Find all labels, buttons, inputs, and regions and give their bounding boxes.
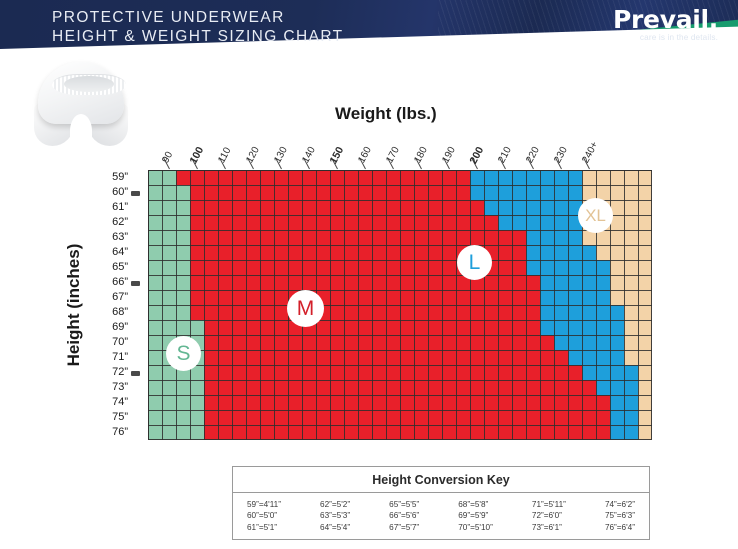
key-column: 68”=5'8”69”=5'9”70”=5'10” [458,499,493,533]
size-badge-m: M [287,290,324,327]
height-tick-label: 60” [112,186,128,198]
key-entry: 59”=4'11” [247,499,281,510]
grid-cell-s [148,275,190,290]
key-entry: 70”=5'10” [458,522,493,533]
key-column: 71”=5'11”72”=6'0”73”=6'1” [532,499,566,533]
grid-cell-s [148,170,176,185]
grid-cell-l [526,260,610,275]
grid-cell-xl [638,365,652,380]
height-tick-label: 76” [112,426,128,438]
grid-cell-l [540,320,624,335]
key-entry: 61”=5'1” [247,522,281,533]
grid-cell-m [204,350,568,365]
height-tick-label: 68” [112,306,128,318]
key-entry: 72”=6'0” [532,510,566,521]
grid-cell-m [204,380,596,395]
grid-cell-m [190,230,526,245]
weight-tick-label: 210 [496,145,514,165]
weight-tick-label: 120 [244,145,262,165]
key-column: 59”=4'11”60”=5'0”61”=5'1” [247,499,281,533]
grid-cell-xl [638,410,652,425]
grid-cell-xl [596,245,652,260]
weight-tick-label: 110 [216,146,233,165]
grid-cell-l [498,215,582,230]
grid-cell-xl [638,425,652,440]
height-tick-label: 71” [112,351,128,363]
key-entry: 69”=5'9” [458,510,493,521]
key-entry: 62”=5'2” [320,499,350,510]
key-column: 74”=6'2”75”=6'3”76”=6'4” [605,499,635,533]
grid-cell-m [176,170,470,185]
size-grid [148,170,652,440]
height-tick-label: 65” [112,261,128,273]
grid-cell-s [148,185,190,200]
grid-cell-l [470,170,582,185]
height-tick-label: 75” [112,411,128,423]
grid-cell-l [540,290,610,305]
height-tick-label: 73” [112,381,128,393]
weight-tick-label: 150 [327,145,346,166]
height-tick-labels: 59”60”61”62”63”64”65”66”67”68”69”70”71”7… [88,170,142,440]
height-tick-label: 72” [112,366,128,378]
height-tick-mark [131,371,140,376]
grid-cell-m [190,305,540,320]
weight-tick-label: 190 [440,145,458,165]
grid-cell-s [148,380,204,395]
grid-cell-s [148,305,190,320]
key-entry: 66”=5'6” [389,510,419,521]
height-tick-label: 74” [112,396,128,408]
key-entry: 76”=6'4” [605,522,635,533]
key-column: 65”=5'5”66”=5'6”67”=5'7” [389,499,419,533]
grid-cell-m [190,200,484,215]
key-entry: 73”=6'1” [532,522,566,533]
grid-cell-m [204,425,610,440]
key-entry: 67”=5'7” [389,522,419,533]
weight-tick-label: 140 [300,145,318,165]
grid-cell-m [204,335,554,350]
size-badge-s: S [166,336,201,371]
grid-cell-xl [610,290,652,305]
grid-cell-xl [624,320,652,335]
weight-tick-label: 240+ [580,140,600,165]
weight-axis-title: Weight (lbs.) [335,104,437,124]
grid-cell-l [526,245,596,260]
weight-tick-label: 90 [160,150,175,165]
weight-tick-label: 180 [412,145,430,165]
grid-cell-xl [638,395,652,410]
key-entry: 65”=5'5” [389,499,419,510]
height-tick-label: 59” [112,171,128,183]
grid-cell-s [148,320,204,335]
grid-cell-xl [624,335,652,350]
grid-cell-l [610,425,638,440]
height-tick-label: 64” [112,246,128,258]
grid-cell-l [582,365,638,380]
weight-tick-label: 220 [524,145,542,165]
key-entry: 63”=5'3” [320,510,350,521]
height-tick-label: 61” [112,201,128,213]
key-entry: 68”=5'8” [458,499,493,510]
height-tick-label: 63” [112,231,128,243]
weight-tick-label: 130 [272,145,290,165]
grid-cell-s [148,425,204,440]
height-tick-label: 62” [112,216,128,228]
height-tick-label: 69” [112,321,128,333]
grid-cell-m [204,410,610,425]
grid-cell-l [540,305,624,320]
height-conversion-key: Height Conversion Key 59”=4'11”60”=5'0”6… [232,466,650,540]
grid-cell-m [204,320,540,335]
grid-cell-m [190,215,498,230]
grid-cell-m [204,395,610,410]
grid-cell-xl [582,170,652,185]
weight-tick-label: 170 [384,145,402,165]
weight-tick-label: 230 [552,145,570,165]
grid-cell-m [190,185,470,200]
grid-cell-xl [624,305,652,320]
grid-cell-s [148,410,204,425]
grid-cell-s [148,260,190,275]
grid-cell-l [568,350,624,365]
grid-cell-l [554,335,624,350]
key-entry: 75”=6'3” [605,510,635,521]
grid-cell-l [610,410,638,425]
grid-cell-xl [610,275,652,290]
grid-cell-m [204,365,582,380]
grid-cell-l [470,185,582,200]
size-badge-l: L [457,245,492,280]
grid-cell-l [526,230,582,245]
grid-cell-l [540,275,610,290]
grid-cell-m [190,275,540,290]
grid-cell-l [610,395,638,410]
key-entry: 74”=6'2” [605,499,635,510]
key-column: 62”=5'2”63”=5'3”64”=5'4” [320,499,350,533]
size-badge-xl: XL [578,198,613,233]
grid-cell-l [596,380,638,395]
height-tick-label: 66” [112,276,128,288]
key-entry: 71”=5'11” [532,499,566,510]
grid-cell-s [148,215,190,230]
key-entry: 60”=5'0” [247,510,281,521]
grid-cell-xl [638,380,652,395]
height-tick-mark [131,281,140,286]
grid-cell-xl [610,260,652,275]
grid-cell-s [148,230,190,245]
grid-cell-l [484,200,582,215]
key-entry: 64”=5'4” [320,522,350,533]
grid-cell-s [148,200,190,215]
grid-cell-s [148,245,190,260]
height-tick-mark [131,191,140,196]
height-tick-label: 70” [112,336,128,348]
weight-tick-label: 200 [467,145,486,166]
height-tick-label: 67” [112,291,128,303]
weight-tick-label: 160 [356,145,374,165]
weight-tick-label: 100 [187,145,206,166]
grid-cell-xl [624,350,652,365]
grid-cell-s [148,290,190,305]
grid-cell-s [148,395,204,410]
key-columns: 59”=4'11”60”=5'0”61”=5'1”62”=5'2”63”=5'3… [233,493,649,533]
key-title: Height Conversion Key [233,467,649,493]
grid-cell-m [190,290,540,305]
height-axis-title: Height (inches) [64,205,84,405]
